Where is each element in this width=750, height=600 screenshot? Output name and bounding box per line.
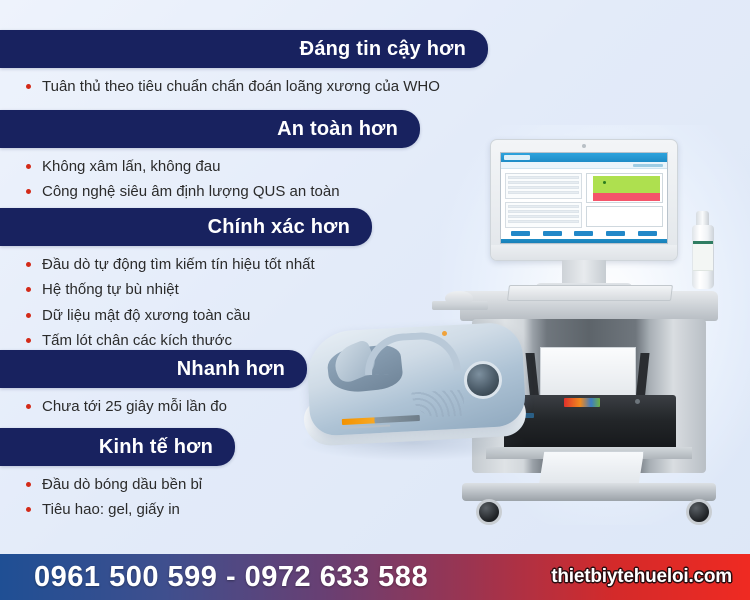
scanner-base	[303, 389, 527, 447]
software-bmd-chart	[586, 173, 663, 203]
printer-feed-left	[525, 353, 539, 401]
software-result-panel	[505, 202, 582, 228]
webcam-icon	[582, 144, 586, 148]
section-nhanh-hon: Nhanh hơn Chưa tới 25 giây mỗi lần đo	[0, 350, 307, 422]
list-item: Không xâm lấn, không đau	[26, 157, 420, 177]
gel-bottle	[692, 225, 714, 289]
section-dang-tin-cay-hon: Đáng tin cậy hơn Tuân thủ theo tiêu chuẩ…	[0, 30, 488, 102]
printer-input-paper	[540, 347, 636, 401]
software-form-column	[505, 173, 582, 227]
scanner-vent	[411, 390, 464, 419]
section-bullet-list: Tuân thủ theo tiêu chuẩn chẩn đoán loãng…	[0, 68, 488, 97]
section-title: Kinh tế hơn	[99, 436, 213, 459]
software-statusbar	[501, 239, 667, 244]
list-item: Tấm lót chân các kích thước	[26, 331, 372, 351]
list-item: Tuân thủ theo tiêu chuẩn chẩn đoán loãng…	[26, 77, 488, 97]
cart-caster-right	[686, 499, 712, 525]
section-an-toan-hon: An toàn hơn Không xâm lấn, không đau Côn…	[0, 110, 420, 208]
scanner-shadow	[298, 425, 528, 461]
scanner-led-icon	[442, 331, 447, 336]
phone-numbers[interactable]: 0961 500 599 - 0972 633 588	[34, 561, 428, 594]
cart-shelf	[486, 447, 692, 459]
printer-power-button	[635, 399, 640, 404]
keyboard	[507, 285, 673, 301]
scanner-dial	[464, 361, 502, 399]
section-kinh-te-hon: Kinh tế hơn Đầu dò bóng dầu bền bỉ Tiêu …	[0, 428, 235, 526]
section-title-bar: An toàn hơn	[0, 110, 420, 148]
section-title: Đáng tin cậy hơn	[300, 38, 466, 61]
cart-worktop	[460, 291, 718, 321]
section-title-bar: Kinh tế hơn	[0, 428, 235, 466]
list-item: Tiêu hao: gel, giấy in	[26, 500, 235, 520]
printer-ink-label	[564, 398, 600, 407]
cart-base	[462, 483, 716, 501]
section-bullet-list: Đầu dò bóng dầu bền bỉ Tiêu hao: gel, gi…	[0, 466, 235, 521]
software-button-row	[501, 231, 667, 239]
monitor	[490, 139, 678, 261]
contact-footer-banner: 0961 500 599 - 0972 633 588 thietbiytehu…	[0, 554, 750, 600]
scanner-brand-logo	[342, 415, 420, 430]
gel-bottle-label	[693, 241, 713, 271]
cart-caster-left	[476, 499, 502, 525]
mouse-tray	[432, 301, 488, 310]
photo-glow	[440, 125, 750, 525]
printer	[504, 395, 676, 451]
list-item: Đầu dò tự động tìm kiếm tín hiệu tốt nhấ…	[26, 255, 372, 275]
software-subbar	[501, 162, 667, 169]
printer-feed-right	[635, 353, 649, 401]
scanner-handle	[363, 331, 461, 376]
section-bullet-list: Chưa tới 25 giây mỗi lần đo	[0, 388, 307, 417]
monitor-stand-base	[536, 283, 632, 295]
list-item: Công nghệ siêu âm định lượng QUS an toàn	[26, 182, 420, 202]
section-title-bar: Nhanh hơn	[0, 350, 307, 388]
monitor-screen	[500, 152, 668, 244]
software-patient-panel	[505, 173, 582, 199]
software-notes-box	[586, 206, 663, 227]
cart-cabinet	[472, 319, 706, 473]
software-chart-column	[586, 173, 663, 227]
list-item: Đầu dò bóng dầu bền bỉ	[26, 475, 235, 495]
list-item: Dữ liệu mật độ xương toàn cầu	[26, 306, 372, 326]
list-item: Hệ thống tự bù nhiệt	[26, 280, 372, 300]
monitor-chin	[491, 245, 677, 260]
section-chinh-xac-hon: Chính xác hơn Đầu dò tự động tìm kiếm tí…	[0, 208, 372, 356]
section-title-bar: Chính xác hơn	[0, 208, 372, 246]
monitor-stand-neck	[562, 260, 606, 286]
gel-bottle-cap-icon	[696, 211, 709, 227]
mouse-icon	[445, 291, 473, 305]
website-url[interactable]: thietbiytehueloi.com	[551, 566, 732, 588]
section-title: An toàn hơn	[277, 118, 398, 141]
section-title: Nhanh hơn	[177, 358, 285, 381]
section-title-bar: Đáng tin cậy hơn	[0, 30, 488, 68]
list-item: Chưa tới 25 giây mỗi lần đo	[26, 397, 307, 417]
printer-output-paper	[538, 451, 644, 491]
section-bullet-list: Không xâm lấn, không đau Công nghệ siêu …	[0, 148, 420, 203]
section-bullet-list: Đầu dò tự động tìm kiếm tín hiệu tốt nhấ…	[0, 246, 372, 351]
software-titlebar	[501, 153, 667, 162]
section-title: Chính xác hơn	[208, 216, 350, 239]
software-body	[501, 169, 667, 231]
